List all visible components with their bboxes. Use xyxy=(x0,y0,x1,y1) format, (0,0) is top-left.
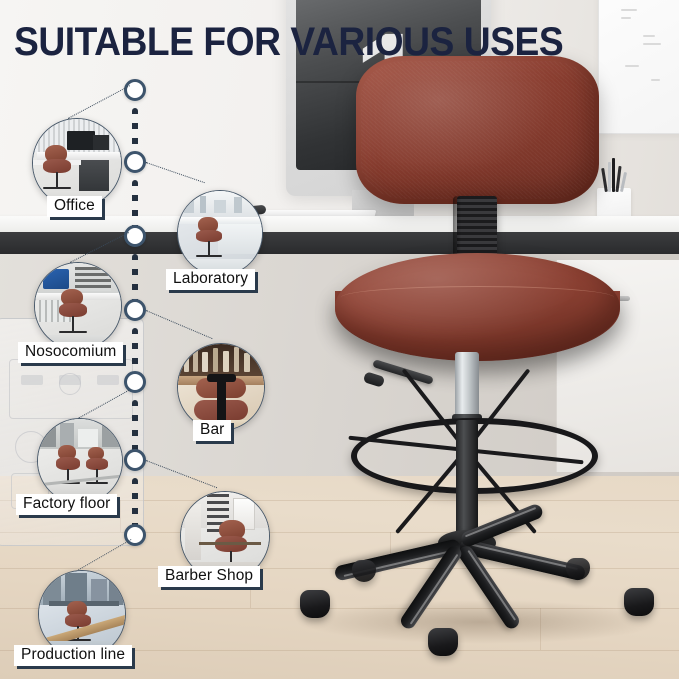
label-factory-floor: Factory floor xyxy=(16,494,117,515)
thumbnail-office[interactable] xyxy=(32,118,122,208)
timeline-node-bar xyxy=(124,299,146,321)
label-production-line: Production line xyxy=(14,645,132,666)
infographic-canvas: 1 xyxy=(0,0,679,679)
thumbnail-laboratory[interactable] xyxy=(177,190,263,276)
label-barber-shop: Barber Shop xyxy=(158,566,260,587)
thumbnail-nosocomium[interactable] xyxy=(34,262,122,350)
timeline-node-barber-shop xyxy=(124,449,146,471)
timeline-node-production-line xyxy=(124,524,146,546)
thumbnail-factory-floor[interactable] xyxy=(37,418,123,504)
label-bar: Bar xyxy=(193,420,231,441)
timeline-node-laboratory xyxy=(124,151,146,173)
timeline-node-office xyxy=(124,79,146,101)
timeline-node-nosocomium xyxy=(124,225,146,247)
label-nosocomium: Nosocomium xyxy=(18,342,123,363)
label-laboratory: Laboratory xyxy=(166,269,255,290)
label-office: Office xyxy=(47,196,102,217)
thumbnail-bar[interactable] xyxy=(177,343,265,431)
